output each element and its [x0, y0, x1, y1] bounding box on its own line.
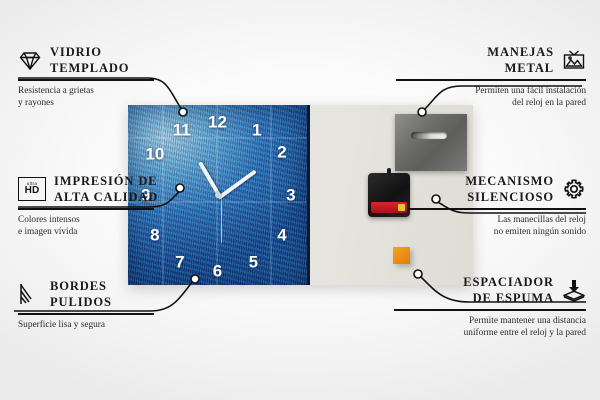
polished-edges-icon	[18, 282, 42, 306]
clock-minute-hand	[217, 170, 257, 200]
clock-second-hand	[220, 195, 221, 243]
callout-desc: Permite mantener una distancia	[394, 315, 586, 328]
callout-bordes-pulidos: BORDES PULIDOS Superficie lisa y segura	[18, 278, 154, 331]
callout-title: VIDRIO	[50, 44, 129, 60]
callout-desc: Permiten una fácil instalación	[396, 85, 586, 98]
clock-numeral: 10	[145, 145, 164, 162]
clock-numeral: 2	[277, 144, 286, 161]
metal-hanger-plate	[395, 114, 467, 171]
callout-desc: Las manecillas del reloj	[408, 214, 586, 227]
callout-rule	[396, 79, 586, 81]
callout-vidrio-templado: VIDRIO TEMPLADO Resistencia a grietas y …	[18, 44, 154, 110]
callout-desc: y rayones	[18, 97, 154, 110]
callout-title: SILENCIOSO	[465, 189, 554, 205]
callout-desc: del reloj en la pared	[396, 97, 586, 110]
framed-picture-icon	[562, 48, 586, 72]
callout-desc: no emiten ningún sonido	[408, 226, 586, 239]
gear-icon	[562, 177, 586, 201]
clock-mechanism	[368, 173, 410, 217]
callout-rule	[394, 309, 586, 311]
callout-title: TEMPLADO	[50, 60, 129, 76]
clock-numeral: 1	[252, 122, 261, 139]
callout-espaciador-de-espuma: ESPACIADOR DE ESPUMA Permite mantener un…	[394, 274, 586, 340]
callout-mecanismo-silencioso: MECANISMO SILENCIOSO Las manecillas del …	[408, 173, 586, 239]
hanger-slot	[411, 132, 447, 139]
ultra-hd-icon-main: HD	[25, 186, 40, 196]
clock-numeral: 11	[173, 122, 191, 139]
callout-title: MECANISMO	[465, 173, 554, 189]
clock-numeral: 3	[286, 187, 295, 204]
callout-desc: Resistencia a grietas	[18, 85, 154, 98]
callout-desc: uniforme entre el reloj y la pared	[394, 327, 586, 340]
callout-title: METAL	[487, 60, 554, 76]
callout-title: DE ESPUMA	[463, 290, 554, 306]
callout-manejas-metal: MANEJAS METAL Permiten una fácil instala…	[396, 44, 586, 110]
clock-numeral: 6	[213, 262, 222, 279]
clock-numeral: 4	[277, 226, 286, 243]
callout-rule	[18, 313, 154, 315]
callout-title: IMPRESIÓN DE	[54, 173, 158, 189]
diamond-icon	[18, 48, 42, 72]
infographic-canvas: 12 1 2 3 4 5 6 7 8 9 10 11	[0, 0, 600, 400]
battery	[371, 202, 407, 213]
callout-title: MANEJAS	[487, 44, 554, 60]
callout-title: PULIDOS	[50, 294, 112, 310]
callout-rule	[408, 208, 586, 210]
ultra-hd-icon: ultra HD	[18, 177, 46, 201]
callout-rule	[18, 208, 154, 210]
clock-numeral: 5	[249, 253, 258, 270]
clock-numeral: 12	[208, 114, 227, 131]
callout-title: BORDES	[50, 278, 112, 294]
callout-desc: Colores intensos	[18, 214, 154, 227]
mechanism-shaft	[387, 168, 391, 175]
callout-rule	[18, 79, 154, 81]
callout-impresion-alta-calidad: ultra HD IMPRESIÓN DE ALTA CALIDAD Color…	[18, 173, 154, 239]
clock-center-pin	[215, 192, 221, 198]
arrow-onto-layers-icon	[562, 278, 586, 302]
callout-desc: Superficie lisa y segura	[18, 319, 154, 332]
clock-numeral: 7	[175, 253, 184, 270]
callout-desc: e imagen vívida	[18, 226, 154, 239]
callout-title: ALTA CALIDAD	[54, 189, 158, 205]
foam-spacer	[393, 247, 410, 264]
callout-title: ESPACIADOR	[463, 274, 554, 290]
